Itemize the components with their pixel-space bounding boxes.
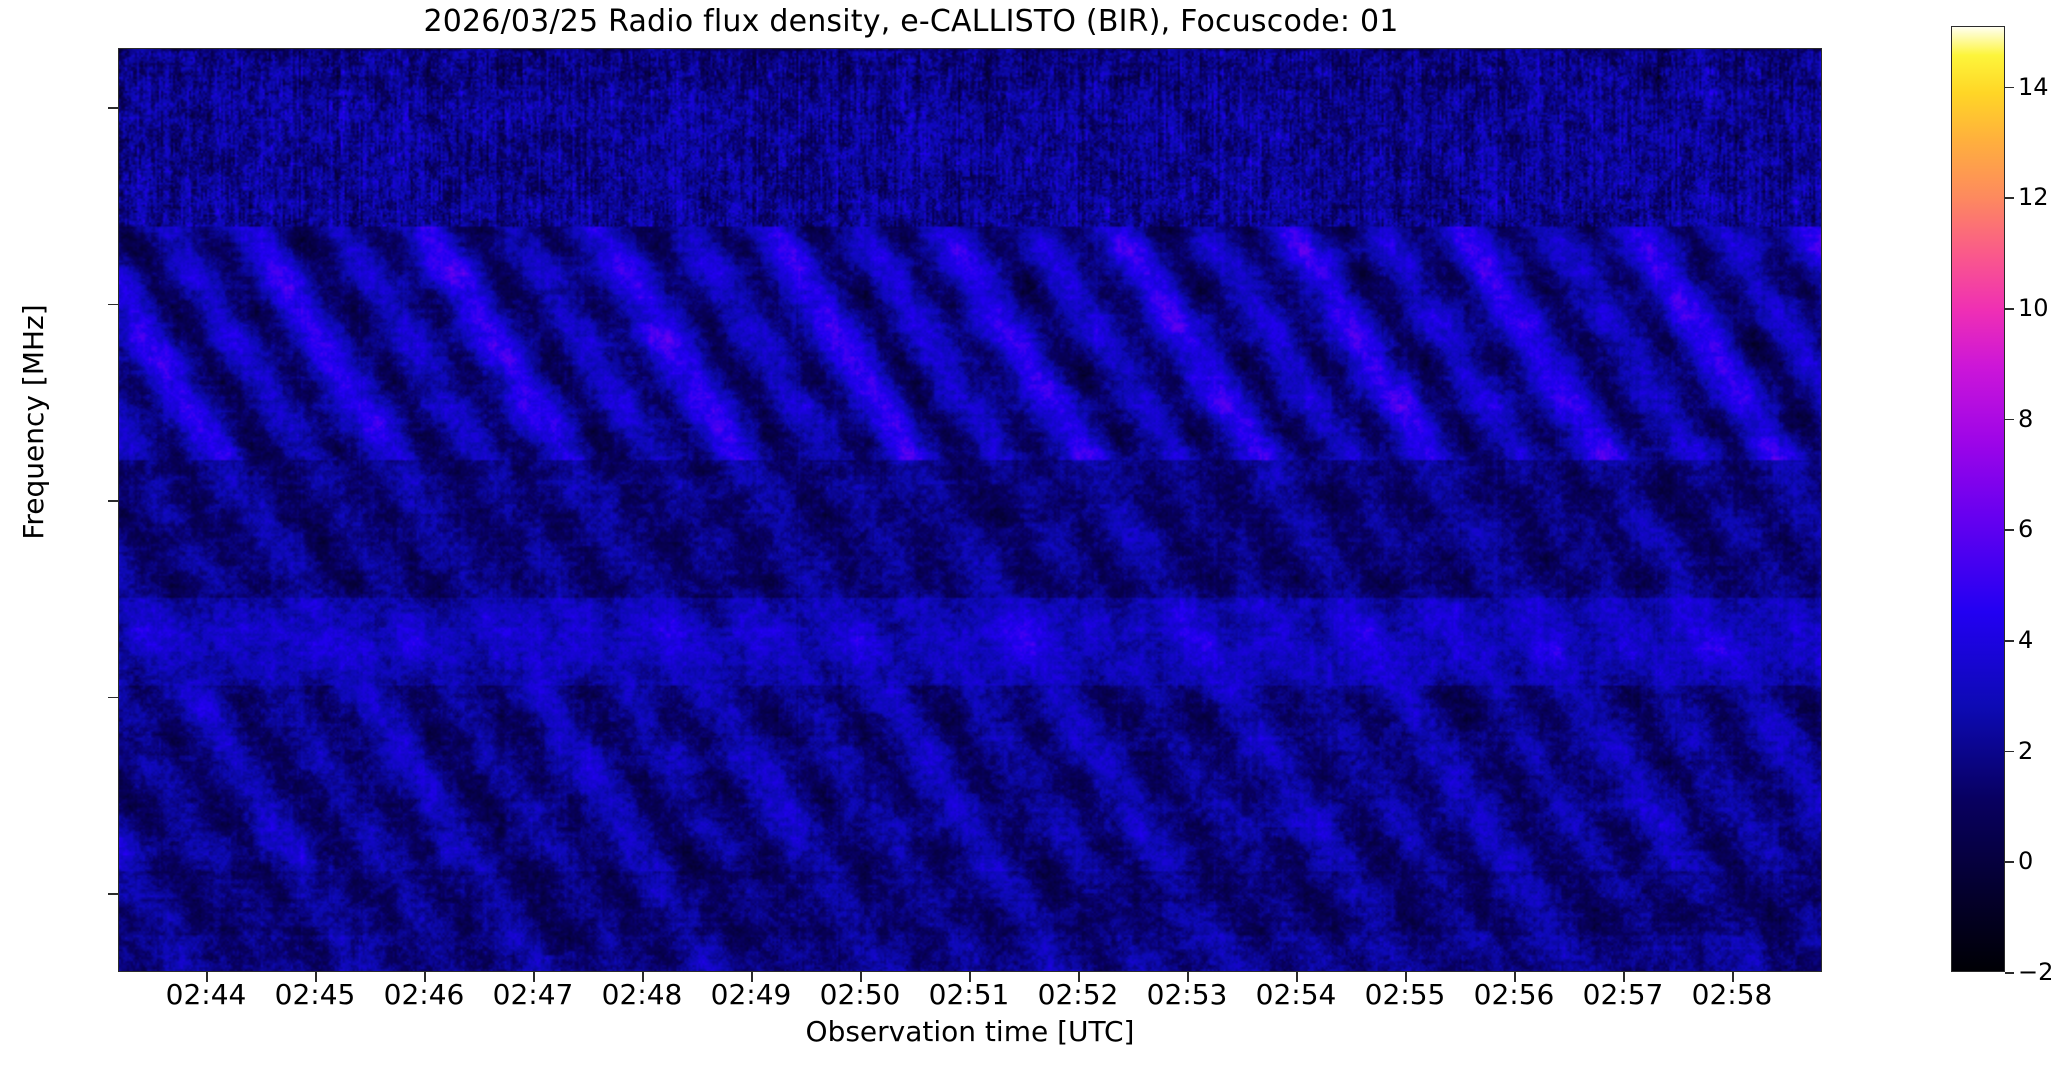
- x-axis-tick-mark: [1623, 972, 1625, 982]
- colorbar-tick-mark: [2005, 529, 2014, 531]
- colorbar-gradient: [1952, 27, 2004, 971]
- colorbar: [1951, 26, 2005, 972]
- x-axis-tick-mark: [1732, 972, 1734, 982]
- spectrogram-heatmap: [119, 49, 1821, 971]
- colorbar-tick-mark: [2005, 308, 2014, 310]
- x-axis-label: Observation time [UTC]: [118, 1016, 1822, 1048]
- y-axis-tick-mark: [108, 107, 118, 109]
- colorbar-tick-mark: [2005, 419, 2014, 421]
- colorbar-tick-mark: [2005, 87, 2014, 89]
- colorbar-tick-label: 2: [2018, 739, 2066, 763]
- colorbar-tick-mark: [2005, 640, 2014, 642]
- x-axis-tick-mark: [1514, 972, 1516, 982]
- colorbar-tick-mark: [2005, 861, 2014, 863]
- colorbar-tick-label: 8: [2018, 407, 2066, 431]
- colorbar-tick-label: 4: [2018, 628, 2066, 652]
- colorbar-tick-label: −2: [2018, 960, 2066, 984]
- x-axis-tick-label: 02:58: [1662, 980, 1802, 1010]
- y-axis-tick-mark: [108, 893, 118, 895]
- x-axis-tick-mark: [969, 972, 971, 982]
- x-axis-tick-mark: [533, 972, 535, 982]
- x-axis-tick-mark: [1405, 972, 1407, 982]
- x-axis-tick-mark: [1078, 972, 1080, 982]
- x-axis-tick-mark: [860, 972, 862, 982]
- colorbar-tick-label: 10: [2018, 296, 2066, 320]
- y-axis-label: Frequency [MHz]: [18, 102, 50, 742]
- spectrogram-figure: 2026/03/25 Radio flux density, e-CALLIST…: [0, 0, 2066, 1067]
- x-axis-tick-mark: [642, 972, 644, 982]
- x-axis-tick-mark: [751, 972, 753, 982]
- colorbar-tick-label: 0: [2018, 849, 2066, 873]
- y-axis-tick-mark: [108, 697, 118, 699]
- colorbar-tick-label: 12: [2018, 185, 2066, 209]
- x-axis-tick-mark: [1187, 972, 1189, 982]
- colorbar-tick-label: 14: [2018, 75, 2066, 99]
- x-axis-tick-mark: [206, 972, 208, 982]
- colorbar-tick-mark: [2005, 972, 2014, 974]
- plot-area: [118, 48, 1822, 972]
- colorbar-tick-mark: [2005, 751, 2014, 753]
- x-axis-tick-mark: [315, 972, 317, 982]
- y-axis-tick-mark: [108, 304, 118, 306]
- x-axis-tick-mark: [424, 972, 426, 982]
- colorbar-tick-label: 6: [2018, 517, 2066, 541]
- y-axis-tick-mark: [108, 500, 118, 502]
- colorbar-tick-mark: [2005, 197, 2014, 199]
- x-axis-tick-mark: [1296, 972, 1298, 982]
- page-title: 2026/03/25 Radio flux density, e-CALLIST…: [0, 4, 1822, 40]
